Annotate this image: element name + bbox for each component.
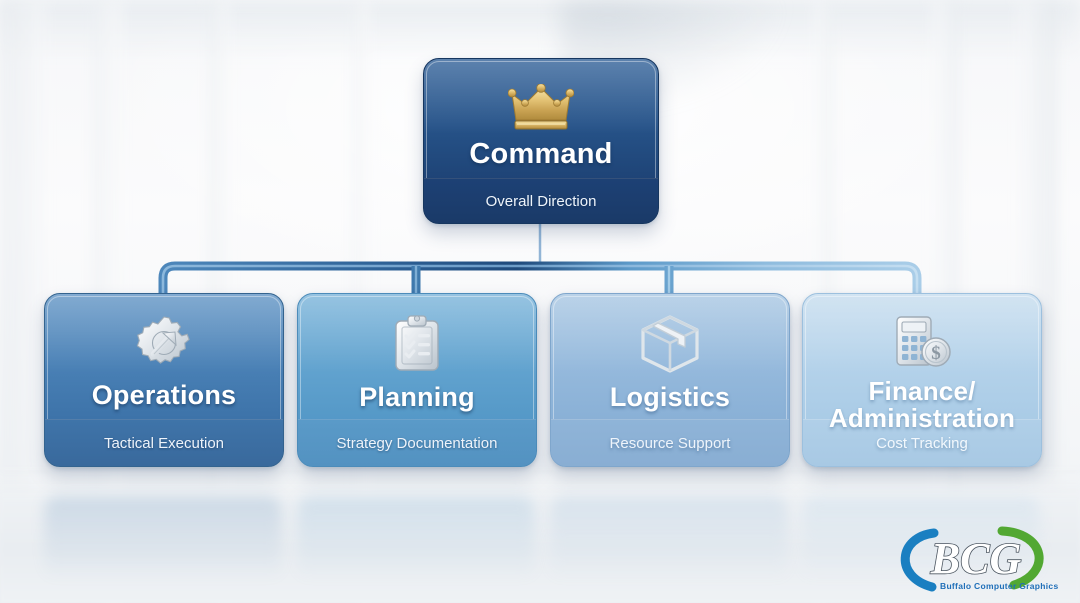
node-finance[interactable]: $ Finance/ Administration Cost Tracking bbox=[802, 293, 1042, 467]
diagram-canvas: Command Overall Direction bbox=[0, 0, 1080, 603]
bcg-logo: BCG Buffalo Computer Graphics bbox=[880, 521, 1066, 595]
node-title-line1: Finance/ bbox=[868, 376, 975, 406]
node-title-line2: Administration bbox=[829, 403, 1015, 433]
gear-arrow-icon bbox=[135, 314, 193, 372]
node-subtitle: Overall Direction bbox=[486, 193, 597, 210]
logo-tagline: Buffalo Computer Graphics bbox=[940, 581, 1058, 591]
crown-icon bbox=[508, 84, 574, 132]
node-subtitle: Tactical Execution bbox=[104, 435, 224, 452]
node-footer: Tactical Execution bbox=[45, 419, 283, 466]
background-ceiling bbox=[0, 0, 1080, 58]
node-operations[interactable]: Operations Tactical Execution bbox=[44, 293, 284, 467]
node-footer: Strategy Documentation bbox=[298, 419, 536, 466]
node-command[interactable]: Command Overall Direction bbox=[423, 58, 659, 224]
svg-text:BCG: BCG bbox=[930, 534, 1022, 583]
node-footer: Resource Support bbox=[551, 419, 789, 466]
node-title: Planning bbox=[359, 384, 475, 412]
node-planning[interactable]: Planning Strategy Documentation bbox=[297, 293, 537, 467]
node-title: Logistics bbox=[610, 384, 730, 412]
node-logistics[interactable]: Logistics Resource Support bbox=[550, 293, 790, 467]
node-subtitle: Strategy Documentation bbox=[337, 435, 498, 452]
node-subtitle: Cost Tracking bbox=[876, 435, 968, 452]
clipboard-checklist-icon bbox=[391, 314, 443, 374]
svg-text:$: $ bbox=[931, 343, 941, 364]
node-title: Operations bbox=[92, 382, 237, 410]
node-title: Command bbox=[469, 140, 612, 170]
node-footer: Overall Direction bbox=[424, 178, 658, 223]
node-title: Finance/ Administration bbox=[829, 378, 1015, 432]
node-subtitle: Resource Support bbox=[610, 435, 731, 452]
calculator-dollar-icon: $ bbox=[891, 314, 953, 372]
package-box-icon bbox=[639, 314, 701, 374]
